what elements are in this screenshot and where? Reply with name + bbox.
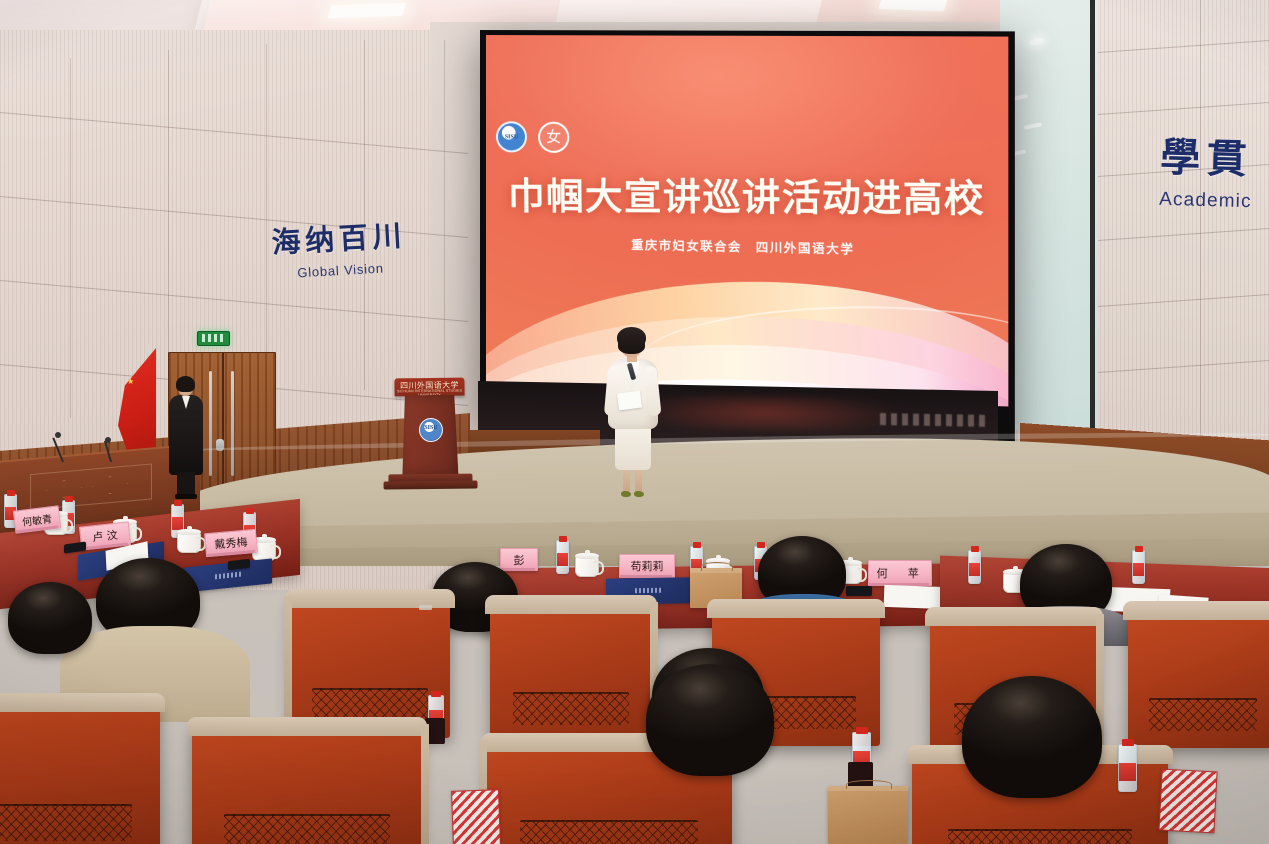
bottle-cap bbox=[174, 500, 182, 506]
led-screen: SISU 女 巾帼大宣讲巡讲活动进高校 重庆市妇女联合会 四川外国语大学 bbox=[486, 35, 1008, 406]
bottle-cap bbox=[693, 542, 701, 548]
audience-head bbox=[962, 676, 1102, 798]
wall-tile-seam bbox=[444, 40, 445, 400]
water-bottle bbox=[556, 540, 569, 574]
audience-head bbox=[646, 664, 774, 776]
bottle-cap bbox=[65, 496, 73, 502]
screen-logo-row: SISU 女 bbox=[496, 121, 569, 153]
bottle-label bbox=[1133, 563, 1144, 576]
seat-mesh-pocket bbox=[520, 820, 697, 844]
auditorium-seat[interactable] bbox=[0, 700, 160, 844]
bottle-cap bbox=[431, 691, 441, 697]
desk-microphone-head-2 bbox=[105, 437, 111, 443]
speaker-hair bbox=[617, 327, 646, 348]
gift-paper-bag bbox=[828, 786, 908, 844]
wall-signage-left: 海纳百川 Global Vision bbox=[270, 212, 408, 281]
lectern-emblem-text: SISU bbox=[420, 425, 442, 431]
sisu-emblem-text: SISU bbox=[505, 134, 518, 140]
folder-emblem bbox=[215, 572, 241, 580]
seat-headrest-trim bbox=[187, 717, 427, 736]
bottle-cap bbox=[246, 508, 254, 514]
bottle-cap bbox=[757, 542, 765, 548]
speaker-shoe-right bbox=[634, 491, 644, 497]
seat-headrest-trim bbox=[707, 599, 885, 618]
bottle-cap bbox=[1135, 546, 1143, 552]
wall-signage-right-cn: 學貫 bbox=[1160, 125, 1254, 185]
door-center-split bbox=[222, 353, 224, 501]
name-card-text: 彭 bbox=[514, 552, 525, 568]
cup-lid-knob bbox=[1013, 566, 1018, 570]
cup-lid-knob bbox=[716, 555, 721, 559]
packaged-item-box bbox=[1158, 769, 1217, 834]
seat-headrest-trim bbox=[485, 595, 657, 614]
tea-cup bbox=[575, 556, 599, 577]
seat-mesh-pocket bbox=[513, 692, 630, 725]
seat-mesh-pocket bbox=[312, 688, 427, 721]
name-card-stand bbox=[501, 568, 535, 571]
packaged-item-box bbox=[451, 789, 501, 844]
water-bottle bbox=[968, 550, 981, 584]
speaker-on-stage bbox=[604, 330, 662, 500]
wall-signage-right: 學貫 Academic bbox=[1159, 125, 1254, 213]
name-card-text: 苟莉莉 bbox=[631, 558, 664, 574]
stage-back-blurred-text bbox=[880, 413, 990, 427]
cup-lid-knob bbox=[123, 516, 128, 520]
tea-cup bbox=[177, 532, 201, 553]
lectern-base-lower bbox=[383, 481, 477, 490]
bottle-label bbox=[1119, 763, 1136, 781]
speaker-shoe-left bbox=[621, 491, 631, 497]
desk-microphone-head-1 bbox=[55, 432, 61, 438]
sisu-emblem-icon: SISU bbox=[496, 121, 527, 152]
bottle-cap bbox=[559, 536, 567, 542]
seat-headrest-trim bbox=[0, 693, 165, 712]
cup-handle bbox=[132, 527, 142, 541]
auditorium-photo: 海纳百川 Global Vision 學貫 Academic SISU 女 巾帼… bbox=[0, 0, 1269, 844]
wall-signage-right-en: Academic bbox=[1159, 189, 1252, 213]
seat-side-panel bbox=[421, 724, 429, 844]
screen-main-title: 巾帼大宣讲巡讲活动进高校 bbox=[486, 166, 1008, 224]
door-handle-right[interactable] bbox=[231, 371, 234, 476]
womens-federation-emblem-text: 女 bbox=[546, 130, 561, 145]
auditorium-seat[interactable] bbox=[1128, 608, 1269, 748]
seat-mesh-pocket bbox=[948, 829, 1132, 844]
speaker-skirt bbox=[615, 426, 651, 470]
name-card-text: 戴秀梅 bbox=[214, 534, 248, 553]
bottle-label bbox=[557, 553, 568, 566]
cup-handle bbox=[594, 561, 604, 575]
sisu-emblem-icon-lectern: SISU bbox=[419, 418, 443, 442]
flag-star-icon: ★ bbox=[127, 378, 134, 386]
wall-tile-seam bbox=[168, 50, 169, 360]
seat-headrest-trim bbox=[925, 607, 1103, 626]
cup-handle bbox=[63, 519, 73, 533]
ceiling-light-1 bbox=[327, 3, 406, 19]
bottle-cap bbox=[1122, 739, 1134, 746]
bottle-cap bbox=[971, 546, 979, 552]
seat-headrest-trim bbox=[1123, 601, 1269, 620]
wall-tile-seam bbox=[266, 44, 267, 374]
usher-legs bbox=[177, 472, 195, 496]
bottle-cap bbox=[856, 727, 868, 734]
cup-lid-knob bbox=[262, 534, 267, 538]
wall-tile-seam bbox=[70, 58, 71, 418]
usher-hair bbox=[176, 376, 195, 392]
staff-standing-by-door bbox=[168, 378, 206, 500]
bag-handle bbox=[846, 780, 893, 789]
water-bottle-in-seat-pocket bbox=[1118, 744, 1137, 792]
mobile-phone bbox=[846, 586, 872, 596]
wall-signage-left-cn: 海纳百川 bbox=[270, 212, 407, 261]
seat-mesh-pocket bbox=[1149, 698, 1257, 731]
cup-lid-knob bbox=[848, 557, 853, 561]
bottle-cap bbox=[7, 490, 15, 496]
emergency-exit-sign bbox=[197, 331, 230, 346]
name-card-text: 何 苹 bbox=[877, 565, 924, 581]
cup-lid-knob bbox=[187, 526, 192, 530]
cup-handle bbox=[857, 568, 867, 582]
lectern: 四川外国语大学 SICHUAN INTERNATIONAL STUDIES UN… bbox=[399, 378, 460, 491]
bag-handle bbox=[701, 562, 732, 571]
cup-lid-knob bbox=[585, 550, 590, 554]
seat-number-tag bbox=[419, 605, 432, 610]
door-handle-left[interactable] bbox=[209, 371, 212, 476]
seat-mesh-pocket bbox=[224, 814, 390, 844]
paper-sheet bbox=[884, 585, 947, 609]
bottle-label bbox=[969, 563, 980, 576]
auditorium-seat[interactable] bbox=[490, 602, 652, 742]
womens-federation-emblem-icon: 女 bbox=[538, 122, 569, 154]
glass-partition-frame bbox=[1090, 0, 1095, 430]
seat-mesh-pocket bbox=[0, 804, 132, 841]
folder-emblem bbox=[635, 588, 661, 593]
desk-front-panel bbox=[30, 463, 152, 510]
speaker-script-paper bbox=[617, 391, 642, 411]
water-bottle bbox=[1132, 550, 1145, 584]
exit-sign-glyph bbox=[202, 334, 224, 342]
lectern-top: 四川外国语大学 SICHUAN INTERNATIONAL STUDIES UN… bbox=[394, 378, 464, 397]
auditorium-seat[interactable] bbox=[192, 724, 422, 844]
audience-head bbox=[8, 582, 92, 654]
bottle-label bbox=[172, 517, 183, 530]
name-card-text: 卢 汶 bbox=[91, 527, 118, 546]
cup-handle bbox=[271, 545, 281, 559]
usher-shoes bbox=[175, 494, 197, 499]
wall-tile-seam bbox=[1200, 0, 1201, 440]
